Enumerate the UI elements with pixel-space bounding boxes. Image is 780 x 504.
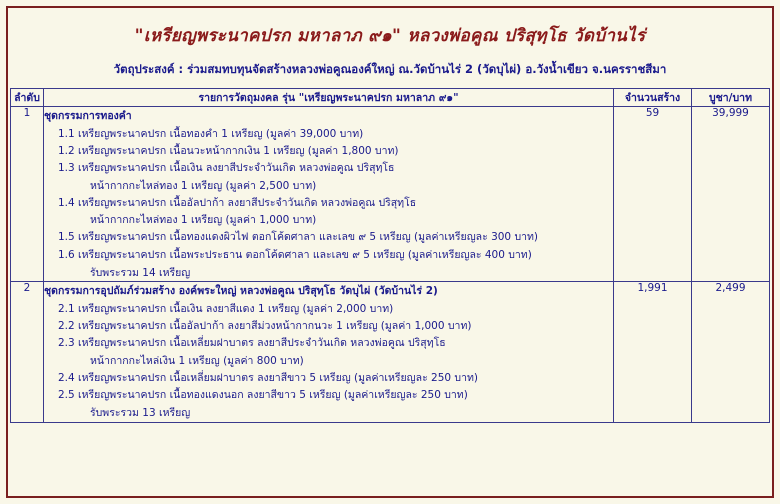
table-header-row: ลำดับ รายการวัตถุมงคล รุ่น "เหรียญพระนาค… [11,89,770,107]
table-body: 1 ชุดกรรมการทองคำ 1.1 เหรียญพระนาคปรก เน… [11,107,770,423]
row-no: 1 [11,107,44,282]
row-heading: ชุดกรรมการอุปถัมภ์ร่วมสร้าง องค์พระใหญ่ … [44,282,613,299]
row-qty: 59 [614,107,692,282]
list-item: 1.2 เหรียญพระนาคปรก เนื้อนวะหน้ากากเงิน … [44,144,613,159]
header-description: รายการวัตถุมงคล รุ่น "เหรียญพระนาคปรก มห… [44,89,614,107]
table-header: ลำดับ รายการวัตถุมงคล รุ่น "เหรียญพระนาค… [11,89,770,107]
list-item: 2.5 เหรียญพระนาคปรก เนื้อทองแดงนอก ลงยาส… [44,388,613,403]
list-item: 1.1 เหรียญพระนาคปรก เนื้อทองคำ 1 เหรียญ … [44,127,613,142]
list-item: 1.6 เหรียญพระนาคปรก เนื้อพระประธาน ตอกโค… [44,248,613,263]
list-item: หน้ากากกะไหล่ทอง 1 เหรียญ (มูลค่า 1,000 … [44,213,613,228]
document-page: "เหรียญพระนาคปรก มหาลาภ ๙๑" หลวงพ่อคูณ ป… [0,0,780,504]
table-row: 2 ชุดกรรมการอุปถัมภ์ร่วมสร้าง องค์พระใหญ… [11,281,770,422]
row-no: 2 [11,281,44,422]
list-item: 2.2 เหรียญพระนาคปรก เนื้ออัลปาก้า ลงยาสี… [44,319,613,334]
header-no: ลำดับ [11,89,44,107]
row-summary: รับพระรวม 14 เหรียญ [44,266,613,281]
row-qty: 1,991 [614,281,692,422]
row-price: 2,499 [692,281,770,422]
list-item: 1.3 เหรียญพระนาคปรก เนื้อเงิน ลงยาสีประจ… [44,161,613,176]
list-item: หน้ากากกะไหล่ทอง 1 เหรียญ (มูลค่า 2,500 … [44,179,613,194]
page-content: "เหรียญพระนาคปรก มหาลาภ ๙๑" หลวงพ่อคูณ ป… [10,10,770,494]
row-description: ชุดกรรมการทองคำ 1.1 เหรียญพระนาคปรก เนื้… [44,107,614,282]
header-qty: จำนวนสร้าง [614,89,692,107]
row-heading: ชุดกรรมการทองคำ [44,107,613,124]
items-table: ลำดับ รายการวัตถุมงคล รุ่น "เหรียญพระนาค… [10,88,770,423]
row-description: ชุดกรรมการอุปถัมภ์ร่วมสร้าง องค์พระใหญ่ … [44,281,614,422]
page-subtitle: วัตถุประสงค์ : ร่วมสมทบทุนจัดสร้างหลวงพ่… [10,61,770,79]
header-price: บูชา/บาท [692,89,770,107]
table-row: 1 ชุดกรรมการทองคำ 1.1 เหรียญพระนาคปรก เน… [11,107,770,282]
list-item: 2.3 เหรียญพระนาคปรก เนื้อเหลี่ยมฝาบาตร ล… [44,336,613,351]
list-item: 2.1 เหรียญพระนาคปรก เนื้อเงิน ลงยาสีแดง … [44,302,613,317]
list-item: 2.4 เหรียญพระนาคปรก เนื้อเหลี่ยมฝาบาตร ล… [44,371,613,386]
row-summary: รับพระรวม 13 เหรียญ [44,406,613,421]
list-item: หน้ากากกะไหล่เงิน 1 เหรียญ (มูลค่า 800 บ… [44,354,613,369]
list-item: 1.4 เหรียญพระนาคปรก เนื้ออัลปาก้า ลงยาสี… [44,196,613,211]
list-item: 1.5 เหรียญพระนาคปรก เนื้อทองแดงผิวไฟ ตอก… [44,230,613,245]
row-price: 39,999 [692,107,770,282]
page-title: "เหรียญพระนาคปรก มหาลาภ ๙๑" หลวงพ่อคูณ ป… [10,22,770,49]
